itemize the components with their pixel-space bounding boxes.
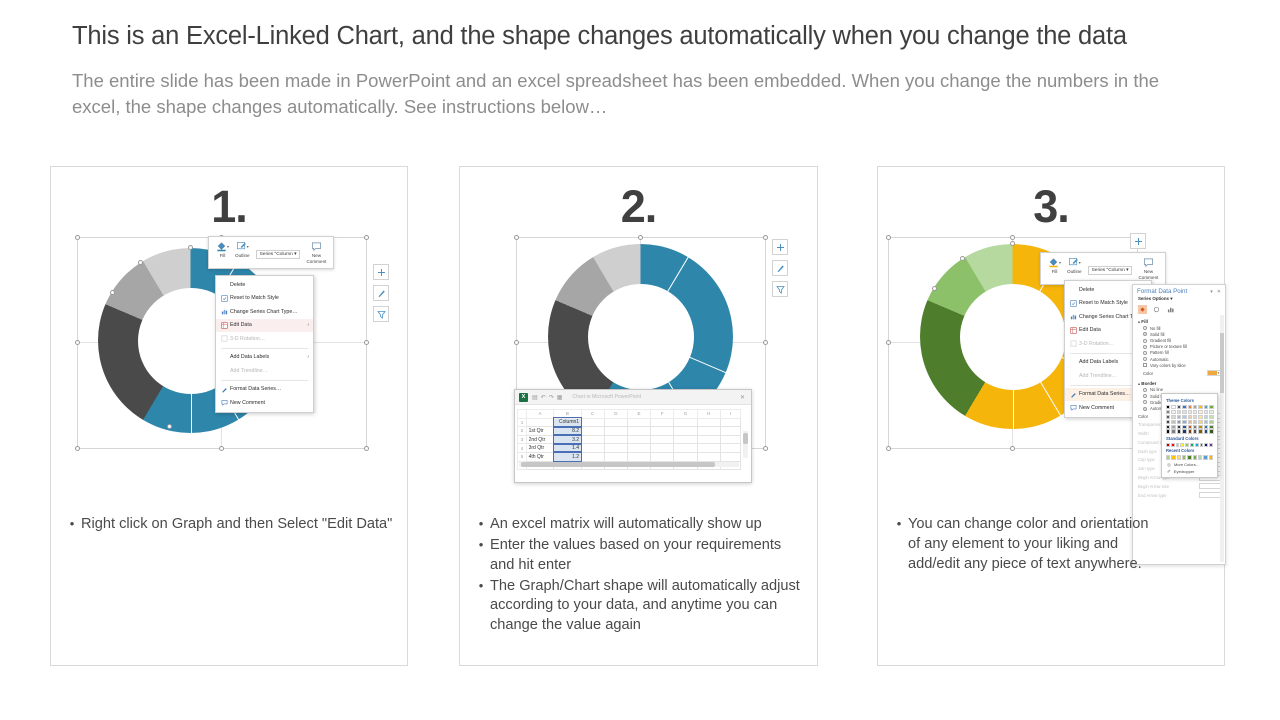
col-header[interactable]: D [604,410,627,419]
close-icon[interactable]: ✕ [740,394,747,401]
border-end-arrow-type-row[interactable]: End Arrow type [1133,491,1225,500]
outline-tool[interactable]: ▾ Outline [1064,256,1085,275]
chart-elements-button[interactable] [772,239,788,255]
color-swatch[interactable] [1171,443,1175,447]
cell[interactable] [697,435,720,444]
color-swatch[interactable] [1193,455,1197,459]
series-dropdown[interactable]: Series "Column ▾ [1088,266,1133,275]
context-menu-1[interactable]: Delete Reset to Match Style Change Serie… [215,275,314,413]
rotate-icon [1068,340,1079,347]
cell[interactable] [674,444,697,453]
row-header[interactable]: 2 [518,427,527,436]
color-swatch[interactable] [1193,425,1197,429]
cell[interactable] [627,435,650,444]
point-handle[interactable] [110,290,115,295]
fill-label: Fill [1052,269,1058,274]
cell[interactable] [674,452,697,461]
menu-item-reset-to-match-style[interactable]: Reset to Match Style [216,292,313,306]
color-swatch[interactable] [1209,429,1213,433]
excel-title-bar[interactable]: X ▤ ↶ ↷ ▦ Chart in Microsoft PowerPoint … [515,390,751,405]
color-swatch[interactable] [1204,420,1208,424]
eyedropper-button[interactable]: ✐ Eyedropper [1166,468,1213,475]
menu-label: 3-D Rotation… [230,336,309,342]
cell[interactable] [581,427,604,436]
pane-controls[interactable]: ▾ ✕ [1210,289,1221,295]
color-swatch[interactable] [1177,429,1181,433]
color-swatch[interactable] [1182,405,1186,409]
fill-bucket-icon: ▾ [1048,257,1061,268]
cell-value[interactable]: 1.4 [554,444,581,453]
recent-colors-row[interactable] [1166,455,1213,459]
col-header[interactable]: I [720,410,740,419]
bullet-dot: • [890,515,908,575]
cell[interactable] [604,427,627,436]
menu-label: Reset to Match Style [230,295,309,301]
prop-value[interactable] [1199,492,1221,498]
chart-elements-button[interactable] [1130,233,1146,249]
point-handle[interactable] [138,260,143,265]
radio-icon[interactable] [1143,407,1147,411]
chart-icon [1068,313,1079,320]
scrollbar-thumb[interactable] [1220,333,1224,393]
theme-colors-grid[interactable] [1166,405,1213,434]
cell[interactable] [674,427,697,436]
cell[interactable] [581,418,604,427]
theme-col [1193,405,1197,434]
theme-colors-label: Theme Colors [1166,398,1213,403]
menu-separator [221,348,308,349]
scrollbar-thumb[interactable] [743,433,748,444]
cell-label[interactable]: 4th Qtr [527,452,554,461]
color-swatch[interactable] [1209,455,1213,459]
color-swatch[interactable] [1193,410,1197,414]
resize-handle[interactable] [638,235,643,240]
current-color-swatch [1208,371,1217,376]
color-swatch[interactable] [1182,429,1186,433]
color-swatch[interactable] [1188,429,1192,433]
color-swatch[interactable] [1171,410,1175,414]
page-subtitle: The entire slide has been made in PowerP… [72,68,1197,121]
radio-icon[interactable] [1143,400,1147,404]
chart-filters-button[interactable] [772,281,788,297]
menu-item-change-series-chart-type[interactable]: Change Series Chart Type… [216,305,313,319]
excel-doc-name: Chart in Microsoft PowerPoint [572,394,641,400]
resize-handle[interactable] [886,235,891,240]
reset-icon [1068,300,1079,307]
panel-step-2: 2. [459,166,818,666]
excel-window[interactable]: X ▤ ↶ ↷ ▦ Chart in Microsoft PowerPoint … [514,389,752,483]
menu-item-add-data-labels[interactable]: Add Data Labels › [216,351,313,365]
chart-elements-button[interactable] [373,264,389,280]
color-picker-popup[interactable]: Theme Colors Standard Colors Recent C [1161,393,1218,478]
col-header[interactable]: C [581,410,604,419]
resize-handle[interactable] [75,446,80,451]
color-swatch[interactable] [1195,443,1199,447]
point-handle[interactable] [932,286,937,291]
fill-tool[interactable]: ▾ Fill [213,240,232,259]
color-swatch[interactable] [1171,405,1175,409]
point-handle[interactable] [167,424,172,429]
mini-toolbar-1[interactable]: ▾ Fill ▾ Outline Series "Column ▾ New Co… [208,236,334,269]
list-item: • An excel matrix will automatically sho… [472,515,807,535]
row-header[interactable]: 5 [518,452,527,461]
redo-icon[interactable]: ↷ [549,394,554,401]
radio-icon[interactable] [1143,326,1147,330]
resize-handle[interactable] [1010,235,1015,240]
color-swatch[interactable] [1176,443,1180,447]
radio-icon[interactable] [1143,339,1147,343]
series-options-tab-icon[interactable] [1166,305,1175,314]
radio-icon[interactable] [1143,388,1147,392]
excel-grid[interactable]: A B C D E F G H I 1 Column1 [515,405,751,470]
color-swatch[interactable] [1177,425,1181,429]
horizontal-scrollbar[interactable] [519,462,739,467]
chart-styles-button[interactable] [373,285,389,301]
cell[interactable] [720,435,740,444]
cell[interactable] [720,444,740,453]
cell[interactable] [720,427,740,436]
menu-item-edit-data[interactable]: Edit Data › [216,319,313,333]
checkbox-icon[interactable] [1143,363,1147,367]
series-options-dropdown[interactable]: Series Options ▾ [1133,296,1225,304]
submenu-arrow-icon: › [302,322,309,328]
color-swatch-button[interactable]: ▾ [1207,370,1221,377]
color-swatch[interactable] [1209,410,1213,414]
cell[interactable] [627,452,650,461]
menu-item-new-comment[interactable]: New Comment [216,396,313,410]
color-swatch[interactable] [1185,443,1189,447]
bullet-dot: • [472,515,490,535]
chart-side-buttons-1 [373,264,389,322]
new-comment-tool[interactable]: New Comment [303,240,329,266]
panel-2-bullets: • An excel matrix will automatically sho… [472,515,807,637]
cell-value[interactable]: 1.2 [554,452,581,461]
color-swatch[interactable] [1187,455,1191,459]
color-swatch[interactable] [1198,410,1202,414]
prop-value[interactable] [1199,483,1221,489]
menu-label: Add Data Labels [1079,359,1140,365]
color-swatch[interactable] [1209,405,1213,409]
comment-icon [1143,257,1154,268]
color-swatch[interactable] [1188,420,1192,424]
pane-scrollbar[interactable] [1220,315,1224,562]
row-header[interactable]: 3 [518,435,527,444]
color-swatch[interactable] [1193,405,1197,409]
brush-icon [219,386,230,393]
color-swatch[interactable] [1177,420,1181,424]
cell[interactable] [674,418,697,427]
eyedropper-icon: ✐ [1167,469,1171,475]
menu-separator [221,380,308,381]
series-dropdown[interactable]: Series "Column ▾ [256,250,301,259]
resize-handle[interactable] [886,340,891,345]
chart-styles-button[interactable] [772,260,788,276]
cell[interactable] [651,418,674,427]
menu-label: Edit Data [230,322,302,328]
color-swatch[interactable] [1188,410,1192,414]
prop-label: End Arrow type [1138,493,1199,498]
color-swatch[interactable] [1198,429,1202,433]
color-swatch[interactable] [1171,429,1175,433]
col-header[interactable]: G [674,410,697,419]
color-swatch[interactable] [1177,455,1181,459]
comment-icon [311,241,322,252]
cell-label[interactable]: 2nd Qtr [527,435,554,444]
list-item: • The Graph/Chart shape will automatical… [472,577,807,637]
color-swatch[interactable] [1182,455,1186,459]
cell[interactable] [581,435,604,444]
menu-label: Delete [230,282,309,288]
pane-title: Format Data Point [1137,288,1187,295]
vertical-scrollbar[interactable] [743,431,748,458]
rotate-icon [219,335,230,342]
color-swatch[interactable] [1166,425,1170,429]
cell[interactable] [627,418,650,427]
menu-item-format-data-series[interactable]: Format Data Series… [216,383,313,397]
close-icon[interactable]: ✕ [1217,289,1221,295]
color-swatch[interactable] [1166,420,1170,424]
resize-handle[interactable] [763,235,768,240]
col-header[interactable]: E [627,410,650,419]
menu-label: Add Trendline… [230,368,309,374]
color-swatch[interactable] [1198,405,1202,409]
list-item: • You can change color and orientation o… [890,515,1164,575]
chart-side-buttons-3 [1130,233,1146,249]
cell-label[interactable]: 3rd Qtr [527,444,554,453]
point-handle[interactable] [188,245,193,250]
border-section-label: Border [1141,381,1156,386]
cell[interactable] [627,427,650,436]
color-swatch[interactable] [1171,455,1175,459]
cell[interactable] [581,452,604,461]
comment-icon [1068,404,1079,411]
color-swatch[interactable] [1209,425,1213,429]
recent-colors-label: Recent Colors [1166,448,1213,453]
color-swatch[interactable] [1166,410,1170,414]
col-header[interactable]: H [697,410,720,419]
cell[interactable] [697,418,720,427]
color-swatch[interactable] [1204,415,1208,419]
bullet-dot: • [472,577,490,637]
color-swatch[interactable] [1182,415,1186,419]
color-swatch[interactable] [1177,415,1181,419]
option-label: Solid fill [1150,332,1164,337]
color-swatch[interactable] [1190,443,1194,447]
point-handle[interactable] [960,256,965,261]
row-header[interactable]: 4 [518,444,527,453]
color-swatch[interactable] [1204,429,1208,433]
resize-handle[interactable] [219,446,224,451]
page-title: This is an Excel-Linked Chart, and the s… [72,22,1212,51]
theme-col [1209,405,1213,434]
color-swatch[interactable] [1171,420,1175,424]
color-swatch[interactable] [1166,405,1170,409]
cell[interactable] [604,452,627,461]
panel-step-3: 3. [877,166,1225,666]
cell[interactable] [720,418,740,427]
cell-label[interactable]: 1st Qtr [527,427,554,436]
resize-handle[interactable] [886,446,891,451]
radio-icon[interactable] [1143,345,1147,349]
color-swatch[interactable] [1188,415,1192,419]
cell[interactable] [604,418,627,427]
color-swatch[interactable] [1200,443,1204,447]
radio-icon[interactable] [1143,394,1147,398]
color-swatch[interactable] [1182,420,1186,424]
color-swatch[interactable] [1177,405,1181,409]
cell[interactable] [697,427,720,436]
color-swatch[interactable] [1171,425,1175,429]
resize-handle[interactable] [763,446,768,451]
resize-handle[interactable] [364,340,369,345]
color-swatch[interactable] [1193,420,1197,424]
fill-label: Fill [220,253,226,258]
color-swatch[interactable] [1204,410,1208,414]
resize-handle[interactable] [1010,446,1015,451]
new-comment-tool[interactable]: New Comment [1135,256,1161,282]
point-handle[interactable] [1010,241,1015,246]
border-begin-arrow-size-row[interactable]: Begin Arrow size [1133,482,1225,491]
color-swatch[interactable] [1204,405,1208,409]
color-swatch[interactable] [1198,425,1202,429]
table-row: 1 Column1 [518,418,741,427]
more-colors-button[interactable]: ◎ More Colors… [1166,461,1213,468]
color-swatch[interactable] [1193,429,1197,433]
cell[interactable] [651,444,674,453]
color-swatch[interactable] [1188,425,1192,429]
resize-handle[interactable] [514,340,519,345]
bullet-text: An excel matrix will automatically show … [490,515,807,535]
color-swatch[interactable] [1209,415,1213,419]
menu-item-add-trendline: Add Trendline… [216,364,313,378]
bullet-text: You can change color and orientation of … [908,515,1164,575]
color-swatch[interactable] [1188,405,1192,409]
border-section-header[interactable]: ▴ Border [1133,379,1225,387]
chart-filters-button[interactable] [373,306,389,322]
cell[interactable] [697,452,720,461]
fill-tool[interactable]: ▾ Fill [1045,256,1064,275]
color-swatch[interactable] [1193,415,1197,419]
fill-line-tab-icon[interactable] [1138,305,1147,314]
effects-tab-icon[interactable] [1152,305,1161,314]
bullet-dot: • [63,515,81,535]
cell[interactable] [674,435,697,444]
color-swatch[interactable] [1209,420,1213,424]
outline-tool[interactable]: ▾ Outline [232,240,253,259]
resize-handle[interactable] [75,340,80,345]
cell[interactable] [651,427,674,436]
outline-label: Outline [1067,269,1082,274]
option-label: Vary colors by slice [1150,363,1186,368]
excel-table: A B C D E F G H I 1 Column1 [517,409,741,470]
color-swatch[interactable] [1198,420,1202,424]
color-swatch[interactable] [1166,455,1170,459]
color-swatch[interactable] [1171,415,1175,419]
col-header[interactable]: A [527,410,554,419]
minimize-icon[interactable]: ▾ [1210,289,1213,295]
standard-colors-row[interactable] [1166,443,1213,447]
color-swatch[interactable] [1182,410,1186,414]
resize-handle[interactable] [364,446,369,451]
cell[interactable] [651,435,674,444]
pane-header: Format Data Point ▾ ✕ [1133,285,1225,296]
color-swatch[interactable] [1182,425,1186,429]
fill-color-row[interactable]: Color ▾ [1133,369,1225,378]
reset-icon [219,295,230,302]
color-swatch[interactable] [1203,455,1207,459]
cell[interactable] [581,444,604,453]
fill-section-header[interactable]: ▴ Fill [1133,317,1225,325]
resize-handle[interactable] [514,235,519,240]
prop-label: Begin Arrow size [1138,484,1199,489]
menu-label: New Comment [230,400,309,406]
theme-col [1177,405,1181,434]
table-icon[interactable]: ▦ [557,394,563,401]
brush-icon [1068,391,1079,398]
resize-handle[interactable] [763,340,768,345]
cell[interactable] [627,444,650,453]
resize-handle[interactable] [364,235,369,240]
color-swatch[interactable] [1180,443,1184,447]
radio-icon[interactable] [1143,351,1147,355]
col-header[interactable]: B [554,410,581,419]
cell[interactable] [604,444,627,453]
theme-col [1182,405,1186,434]
resize-handle[interactable] [75,235,80,240]
color-swatch[interactable] [1166,429,1170,433]
menu-item-3d-rotation: 3-D Rotation… [216,332,313,346]
table-row: 4 3rd Qtr 1.4 [518,444,741,453]
option-label: Automatic [1150,357,1169,362]
undo-icon[interactable]: ↶ [541,394,546,401]
save-icon[interactable]: ▤ [532,394,538,401]
cell-value[interactable]: 3.2 [554,435,581,444]
menu-label: Format Data Series… [230,386,309,392]
radio-icon[interactable] [1143,332,1147,336]
color-swatch[interactable] [1209,443,1213,447]
quick-access-toolbar[interactable]: ▤ ↶ ↷ ▦ [532,394,562,401]
panel-1-bullets: • Right click on Graph and then Select "… [63,515,397,536]
cell[interactable] [697,444,720,453]
outline-pen-icon: ▾ [1068,257,1081,268]
col-header[interactable]: F [651,410,674,419]
scrollbar-thumb[interactable] [521,462,715,467]
cell-b1-header[interactable]: Column1 [554,418,581,427]
panel-3-bullets: • You can change color and orientation o… [890,515,1164,576]
cell-value[interactable]: 8.2 [554,427,581,436]
color-swatch[interactable] [1177,410,1181,414]
color-swatch[interactable] [1166,415,1170,419]
new-comment-label-1: New [312,253,321,258]
color-swatch[interactable] [1204,425,1208,429]
menu-item-delete[interactable]: Delete [216,278,313,292]
row-header[interactable]: 1 [518,418,527,427]
segment-divider [191,341,192,434]
theme-col [1188,405,1192,434]
bullet-text: Right click on Graph and then Select "Ed… [81,515,397,535]
color-swatch[interactable] [1204,443,1208,447]
cell[interactable] [720,452,740,461]
color-swatch[interactable] [1198,415,1202,419]
color-swatch[interactable] [1198,455,1202,459]
new-comment-label-1: New [1144,269,1153,274]
cell-a1[interactable] [527,418,554,427]
radio-icon[interactable] [1143,357,1147,361]
cell[interactable] [604,435,627,444]
eyedropper-label: Eyedropper [1174,469,1195,474]
color-swatch[interactable] [1166,443,1170,447]
cell[interactable] [651,452,674,461]
